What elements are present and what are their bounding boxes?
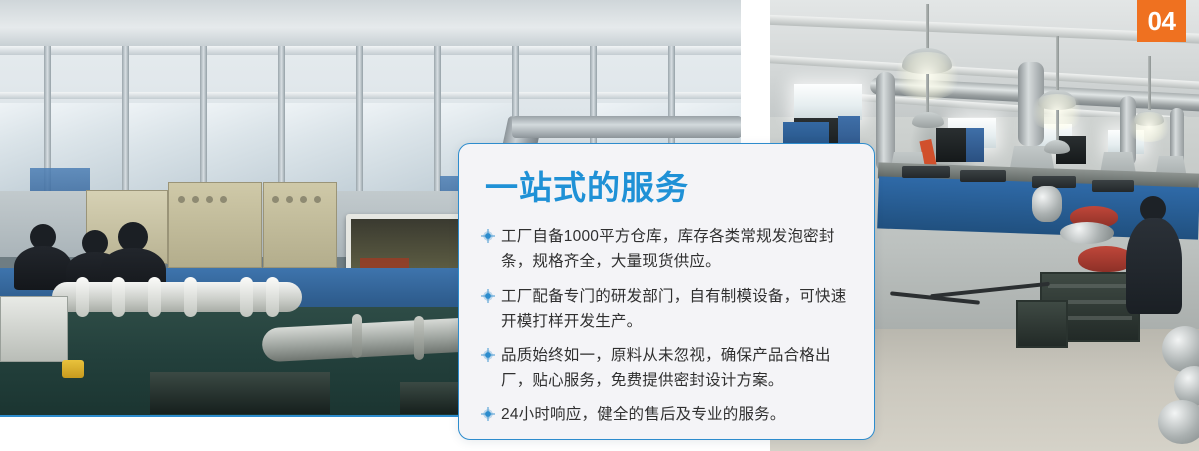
photo-tray (902, 166, 950, 178)
photo-metal-disc (1158, 400, 1199, 444)
photo-screw-ring (112, 277, 125, 317)
photo-ceiling (0, 0, 741, 46)
photo-window (794, 84, 862, 120)
photo-lamp-glow (1126, 112, 1172, 142)
photo-screw-ring (266, 277, 279, 317)
photo-beam (0, 46, 741, 55)
photo-duct-horizontal (512, 116, 741, 138)
list-item: 品质始终如一，原料从未忽视，确保产品合格出厂，贴心服务，免费提供密封设计方案。 (481, 343, 852, 393)
list-item: 工厂自备1000平方仓库，库存各类常规发泡密封条，规格齐全，大量现货供应。 (481, 224, 852, 274)
photo-lamp-rod (926, 74, 929, 116)
photo-metal-disc (1060, 222, 1114, 244)
photo-machine-base (150, 372, 330, 414)
photo-screw-ring (148, 277, 161, 317)
photo-blue-door (966, 128, 984, 162)
photo-beam (0, 92, 741, 99)
list-item: 工厂配备专门的研发部门，自有制模设备，可快速开模打样开发生产。 (481, 284, 852, 334)
list-item-text: 品质始终如一，原料从未忽视，确保产品合格出厂，贴心服务，免费提供密封设计方案。 (501, 343, 852, 393)
photo-cabinet-dots (272, 196, 321, 203)
diamond-bullet-icon (481, 229, 495, 243)
service-bullet-list: 工厂自备1000平方仓库，库存各类常规发泡密封条，规格齐全，大量现货供应。 工厂… (481, 224, 852, 427)
photo-yellow-part (62, 360, 84, 378)
list-item-text: 24小时响应，健全的售后及专业的服务。 (501, 402, 852, 427)
photo-lamp-shade (1044, 140, 1070, 154)
card-title: 一站式的服务 (485, 170, 874, 206)
list-item-text: 工厂自备1000平方仓库，库存各类常规发泡密封条，规格齐全，大量现货供应。 (501, 224, 852, 274)
photo-lamp-rod (1148, 56, 1151, 114)
photo-window-pane (285, 103, 356, 193)
photo-window-pane (207, 103, 278, 193)
photo-tray (960, 170, 1006, 182)
photo-mullion (434, 46, 441, 191)
promo-banner: 04 一站式的服务 工厂自备1000平方仓库，库存各类常规发泡密封条，规格齐全，… (0, 0, 1199, 451)
photo-window-pane (363, 103, 434, 193)
photo-lamp-shade (912, 112, 944, 128)
photo-extruder-screw (52, 282, 302, 312)
photo-cabinet (263, 182, 337, 268)
photo-screw-ring (184, 277, 197, 317)
photo-person (1126, 218, 1182, 314)
photo-lamp-rod (1056, 36, 1059, 94)
service-info-card: 一站式的服务 工厂自备1000平方仓库，库存各类常规发泡密封条，规格齐全，大量现… (458, 143, 875, 440)
photo-barrel-band (414, 316, 424, 360)
section-number-text: 04 (1148, 8, 1176, 34)
photo-metal-roll (1032, 186, 1062, 222)
diamond-bullet-icon (481, 407, 495, 421)
photo-cabinet-dots (178, 196, 227, 203)
photo-screw-ring (76, 277, 89, 317)
list-item: 24小时响应，健全的售后及专业的服务。 (481, 402, 852, 427)
photo-cabinet (168, 182, 262, 268)
photo-equipment-box (0, 296, 68, 362)
photo-barrel-band (352, 314, 362, 358)
list-item-text: 工厂配备专门的研发部门，自有制模设备，可快速开模打样开发生产。 (501, 284, 852, 334)
photo-crate (1016, 300, 1068, 348)
photo-mullion (278, 46, 285, 191)
photo-tray (1092, 180, 1134, 192)
photo-mullion (122, 46, 129, 191)
photo-mullion (356, 46, 363, 191)
diamond-bullet-icon (481, 289, 495, 303)
diamond-bullet-icon (481, 348, 495, 362)
photo-mullion (200, 46, 207, 191)
photo-lamp-rod (1056, 110, 1059, 144)
photo-screw-ring (240, 277, 253, 317)
photo-window-pane (129, 103, 200, 193)
section-number-badge: 04 (1137, 0, 1186, 42)
photo-duct-riser (876, 72, 895, 172)
